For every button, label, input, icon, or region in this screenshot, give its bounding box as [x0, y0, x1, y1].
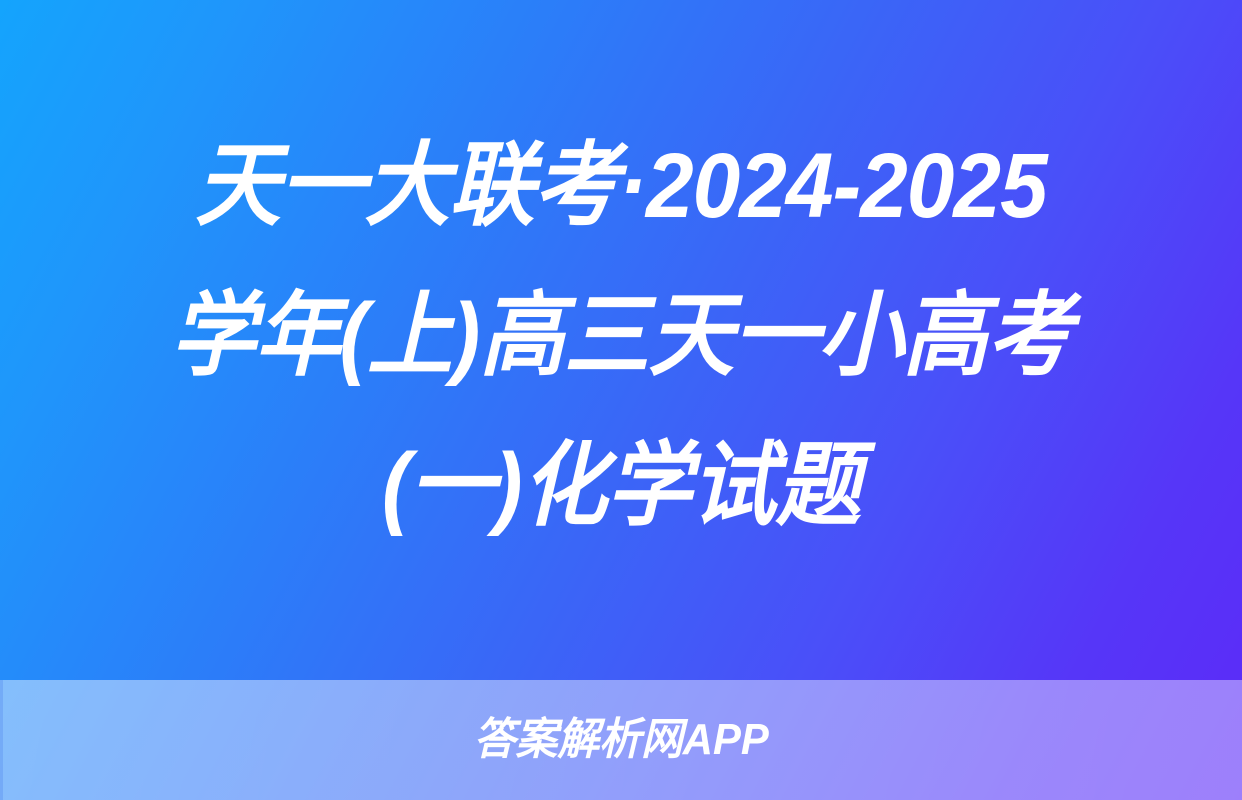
exam-title-card: 天一大联考·2024-2025 学年(上)高三天一小高考 (一)化学试题 答案解… [0, 0, 1242, 800]
page-title: 天一大联考·2024-2025 学年(上)高三天一小高考 (一)化学试题 [0, 0, 1242, 680]
title-line-3: (一)化学试题 [43, 411, 1198, 561]
footer-brand-band: 答案解析网APP [0, 680, 1242, 800]
footer-brand-label: 答案解析网APP [474, 716, 769, 764]
title-line-1: 天一大联考·2024-2025 [43, 111, 1198, 261]
title-line-2: 学年(上)高三天一小高考 [43, 261, 1198, 411]
